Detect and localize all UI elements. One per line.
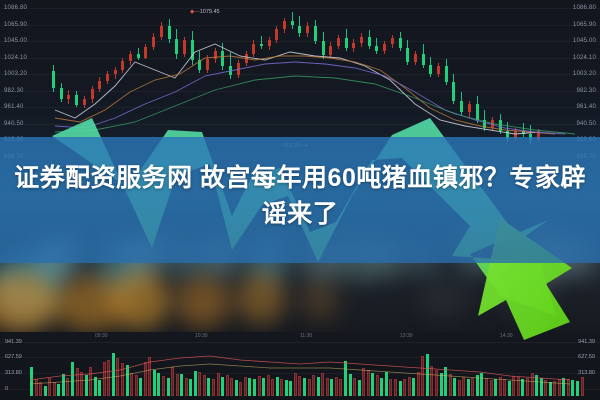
time-axis-label: 10:30 [195, 333, 208, 339]
time-axis-label: 09:30 [95, 333, 108, 339]
candlestick [391, 35, 394, 48]
bokeh-circle [175, 276, 231, 328]
bokeh-circle [500, 268, 556, 314]
price-axis-label-left: 1086.80 [4, 5, 27, 11]
volume-axis-label-left: 627.59 [5, 354, 22, 360]
candle-body [206, 59, 209, 69]
candle-body [314, 26, 317, 41]
price-axis-label-left: 1024.10 [4, 55, 27, 61]
candle-body [52, 71, 55, 88]
candle-body [183, 40, 186, 53]
candle-body [399, 38, 402, 47]
price-axis-label-right: 982.30 [576, 88, 596, 94]
candlestick [52, 65, 55, 92]
candle-body [452, 82, 455, 101]
candlestick [291, 12, 294, 29]
candle-body [499, 120, 502, 131]
candle-body [168, 26, 171, 39]
price-axis-label-left: 982.30 [4, 88, 24, 94]
candle-body [214, 51, 217, 59]
candlestick [206, 55, 209, 72]
grid-line [0, 74, 600, 75]
time-axis-label: 13:30 [400, 333, 413, 339]
candlestick [229, 52, 232, 79]
candlestick [352, 39, 355, 52]
candlestick [283, 18, 286, 33]
candle-body [260, 44, 263, 46]
candlestick [452, 74, 455, 104]
candlestick [406, 40, 409, 65]
candlestick [121, 58, 124, 73]
price-axis-label-left: 940.50 [4, 121, 24, 127]
candlestick [345, 29, 348, 51]
candle-body [414, 54, 417, 62]
candlestick [460, 92, 463, 116]
candle-body [67, 95, 70, 99]
volume-axis-label-right: 313.80 [578, 370, 595, 376]
volume-axis-label-right: 941.39 [578, 339, 595, 345]
candle-body [375, 46, 378, 51]
volume-ma-line [0, 332, 600, 400]
candle-body [298, 26, 301, 34]
candle-body [460, 101, 463, 112]
candle-body [229, 66, 232, 75]
candlestick [298, 16, 301, 37]
candlestick [252, 40, 255, 57]
candlestick [268, 37, 271, 50]
candlestick [491, 117, 494, 131]
price-chart: ◆—1079.45 912.25—▸ 1086.801086.801065.90… [0, 0, 600, 160]
candlestick [183, 37, 186, 57]
candlestick [322, 32, 325, 59]
candlestick [91, 86, 94, 103]
grid-line [0, 41, 600, 42]
candle-body [144, 47, 147, 58]
volume-chart: 941.39941.39627.59627.59313.80313.800 09… [0, 332, 600, 400]
candlestick [314, 20, 317, 44]
volume-axis-label-left: 941.39 [5, 339, 22, 345]
page-title: 证券配资服务网 故宫每年用60吨猪血镇邪？专家辟谣来了 [0, 160, 600, 232]
candle-body [198, 60, 201, 69]
candle-body [221, 51, 224, 65]
candle-body [245, 54, 248, 63]
candle-body [345, 38, 348, 47]
candle-body [522, 131, 525, 134]
candlestick [476, 96, 479, 123]
candle-body [422, 54, 425, 65]
grid-line [0, 107, 600, 108]
price-axis-label-right: 1024.10 [573, 55, 596, 61]
candlestick [483, 110, 486, 130]
candle-body [476, 104, 479, 120]
candle-body [98, 81, 101, 90]
candle-body [152, 37, 155, 47]
candlestick [260, 36, 263, 49]
candle-body [129, 54, 132, 61]
candlestick [468, 101, 471, 117]
candle-body [106, 74, 109, 80]
candlestick [191, 31, 194, 65]
candlestick [98, 77, 101, 91]
candlestick [67, 90, 70, 104]
candlestick [83, 96, 86, 109]
poster-stage: ◆—1079.45 912.25—▸ 1086.801086.801065.90… [0, 0, 600, 400]
candle-body [283, 21, 286, 30]
candlestick [245, 51, 248, 67]
candlestick [152, 33, 155, 50]
volume-axis-label-right: 627.59 [578, 354, 595, 360]
bokeh-circle [236, 272, 286, 324]
candle-body [191, 40, 194, 60]
candle-body [306, 26, 309, 33]
candlestick [499, 114, 502, 134]
candle-body [383, 44, 386, 50]
candlestick [429, 57, 432, 77]
price-axis-label-right: 1065.90 [573, 22, 596, 28]
candlestick [237, 60, 240, 78]
candlestick [375, 38, 378, 54]
bokeh-circle [110, 270, 170, 330]
price-axis-label-left: 1065.90 [4, 22, 27, 28]
candle-body [468, 104, 471, 112]
candle-body [291, 21, 294, 26]
candle-body [368, 37, 371, 46]
candle-body [437, 66, 440, 74]
price-axis-label-left: 1045.00 [4, 38, 27, 44]
price-axis-label-right: 1086.80 [573, 5, 596, 11]
candle-body [121, 61, 124, 70]
bokeh-circle [300, 280, 340, 320]
volume-axis-label-left: 0 [5, 386, 8, 392]
candlestick [414, 51, 417, 65]
price-axis-label-right: 961.40 [576, 104, 596, 110]
candle-body [114, 70, 117, 74]
candle-body [137, 54, 140, 58]
candle-body [337, 38, 340, 46]
high-price-annotation: ◆—1079.45 [190, 9, 220, 15]
candle-body [60, 88, 63, 98]
candlestick [337, 35, 340, 49]
candlestick [129, 51, 132, 65]
candlestick [306, 22, 309, 36]
candlestick [368, 30, 371, 49]
candle-body [160, 26, 163, 36]
volume-axis-label-left: 313.80 [5, 370, 22, 376]
candlestick [383, 41, 386, 54]
grid-line [0, 8, 600, 9]
candle-body [252, 44, 255, 54]
time-axis-label: 14:30 [500, 333, 513, 339]
candle-body [445, 66, 448, 82]
candlestick [144, 44, 147, 59]
candle-body [352, 43, 355, 48]
candlestick [360, 33, 363, 46]
time-axis-label: 11:30 [300, 333, 312, 339]
candlestick [60, 83, 63, 102]
candlestick [329, 42, 332, 58]
candle-body [237, 63, 240, 75]
candlestick [137, 48, 140, 61]
price-axis-label-right: 940.50 [576, 121, 596, 127]
candlestick [221, 43, 224, 70]
candlestick [275, 26, 278, 43]
candle-body [329, 46, 332, 55]
candle-body [83, 99, 86, 105]
bokeh-circle [55, 276, 125, 332]
candle-body [483, 120, 486, 128]
candlestick [75, 91, 78, 108]
candlestick [399, 32, 402, 51]
candlestick [422, 44, 425, 68]
candlestick [175, 29, 178, 59]
candlestick [522, 123, 525, 137]
candlestick [106, 71, 109, 84]
candle-body [268, 40, 271, 46]
candle-body [91, 89, 94, 99]
candle-body [391, 38, 394, 44]
grid-line [0, 124, 600, 125]
candle-body [491, 120, 494, 128]
candle-body [406, 48, 409, 62]
candle-body [75, 95, 78, 105]
candlestick [437, 63, 440, 77]
price-axis-label-left: 1003.20 [4, 71, 27, 77]
candlestick [114, 67, 117, 79]
bokeh-circle [0, 272, 60, 332]
candlestick [198, 51, 201, 73]
candlestick [160, 22, 163, 39]
candlestick [168, 19, 171, 43]
candlestick [214, 48, 217, 64]
candlestick [445, 59, 448, 86]
grid-line [0, 58, 600, 59]
price-axis-label-right: 1045.00 [573, 38, 596, 44]
candle-body [360, 37, 363, 43]
price-axis-label-right: 1003.20 [573, 71, 596, 77]
candle-body [429, 65, 432, 74]
price-axis-label-left: 961.40 [4, 104, 24, 110]
candle-body [275, 29, 278, 39]
candle-wick [261, 36, 262, 49]
candle-body [175, 39, 178, 54]
candle-body [322, 41, 325, 54]
bokeh-circle [420, 280, 466, 320]
